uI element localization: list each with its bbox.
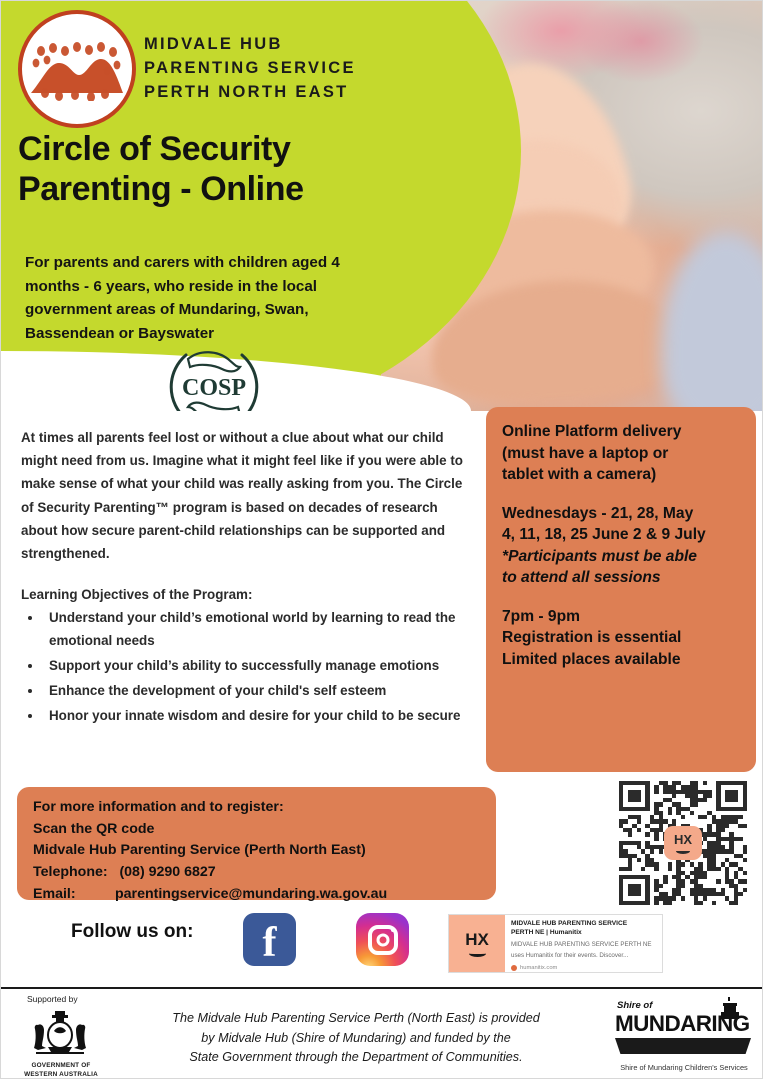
qr-logo-text: HX [674, 833, 692, 846]
humanitix-card-desc-1: MIDVALE HUB PARENTING SERVICE PERTH NE [511, 941, 656, 950]
delivery-line-1: Online Platform delivery [502, 421, 740, 443]
humanitix-card-title-2: PERTH NE | Humanitix [511, 929, 656, 938]
brand-line-1: MIDVALE HUB [144, 33, 356, 57]
smile-icon [469, 950, 486, 957]
brand-line-3: PERTH NORTH EAST [144, 81, 356, 105]
cosp-circle-hands-icon: COSP [166, 339, 262, 411]
funding-line-1: The Midvale Hub Parenting Service Perth … [141, 1009, 571, 1029]
objectives-list: Understand your child’s emotional world … [43, 606, 473, 727]
attendance-note-line-2: to attend all sessions [502, 567, 740, 589]
supported-by-label: Supported by [27, 994, 78, 1004]
page-title: Circle of Security Parenting - Online [18, 129, 304, 209]
contact-qr-instruction: Scan the QR code [33, 819, 480, 841]
contact-telephone[interactable]: Telephone: (08) 9290 6827 [33, 862, 480, 884]
list-item: Enhance the development of your child's … [43, 679, 473, 702]
humanitix-thumbnail: HX [449, 915, 505, 972]
contact-info-box: For more information and to register: Sc… [17, 787, 496, 900]
list-item: Honor your innate wisdom and desire for … [43, 704, 473, 727]
funding-line-2: by Midvale Hub (Shire of Mundaring) and … [141, 1029, 571, 1049]
eligibility-text: For parents and carers with children age… [25, 251, 385, 345]
brand-line-2: PARENTING SERVICE [144, 57, 356, 81]
facebook-glyph: f [263, 922, 277, 964]
wa-government-crest-icon [26, 1009, 94, 1061]
follow-us-label: Follow us on: [71, 921, 193, 943]
humanitix-logo-text: HX [465, 931, 489, 948]
hills-handprints-icon [29, 41, 125, 101]
list-item: Understand your child’s emotional world … [43, 606, 473, 652]
midvale-hub-logo [18, 10, 136, 128]
humanitix-card-url-row: humanitix.com [511, 965, 656, 971]
list-item: Support your child’s ability to successf… [43, 654, 473, 677]
svg-text:COSP: COSP [182, 375, 246, 401]
globe-icon [511, 965, 517, 971]
humanitix-card-desc-2: uses Humanitix for their events. Discove… [511, 952, 656, 961]
session-time: 7pm - 9pm [502, 606, 740, 628]
humanitix-card-title-1: MIDVALE HUB PARENTING SERVICE [511, 920, 656, 929]
registration-line-1: Registration is essential [502, 627, 740, 649]
attendance-note-line-1: *Participants must be able [502, 546, 740, 568]
funding-line-3: State Government through the Department … [141, 1048, 571, 1068]
humanitix-card-text: MIDVALE HUB PARENTING SERVICE PERTH NE |… [505, 915, 662, 972]
instagram-icon[interactable] [356, 913, 409, 966]
shire-of-label: Shire of [617, 1000, 652, 1011]
contact-email[interactable]: Email: parentingservice@mundaring.wa.gov… [33, 884, 480, 906]
intro-paragraph: At times all parents feel lost or withou… [21, 426, 473, 565]
poster-root: MIDVALE HUB PARENTING SERVICE PERTH NORT… [0, 0, 763, 1079]
humanitix-link-card[interactable]: HX MIDVALE HUB PARENTING SERVICE PERTH N… [448, 914, 663, 973]
hero-section: MIDVALE HUB PARENTING SERVICE PERTH NORT… [1, 1, 763, 411]
wa-gov-line-1: GOVERNMENT OF [18, 1062, 104, 1071]
facebook-icon[interactable]: f [243, 913, 296, 966]
wa-gov-line-2: WESTERN AUSTRALIA [18, 1071, 104, 1079]
delivery-line-3: tablet with a camera) [502, 464, 740, 486]
contact-heading: For more information and to register: [33, 797, 480, 819]
contact-org-name: Midvale Hub Parenting Service (Perth Nor… [33, 840, 480, 862]
objectives-title: Learning Objectives of the Program: [21, 587, 473, 602]
dates-line-1: Wednesdays - 21, 28, May [502, 503, 740, 525]
smile-icon [676, 848, 690, 854]
clock-tower-icon [717, 997, 743, 1019]
shire-children-services-label: Shire of Mundaring Children's Services [613, 1063, 755, 1072]
shire-of-mundaring-logo: Shire of MUNDARING [613, 997, 753, 1059]
brand-name: MIDVALE HUB PARENTING SERVICE PERTH NORT… [144, 33, 356, 105]
funding-statement: The Midvale Hub Parenting Service Perth … [141, 1009, 571, 1068]
qr-code[interactable]: HX [619, 781, 747, 905]
session-details-box: Online Platform delivery (must have a la… [486, 407, 756, 772]
humanitix-card-url: humanitix.com [520, 965, 557, 971]
title-line-2: Parenting - Online [18, 169, 304, 209]
humanitix-qr-logo: HX [664, 826, 702, 860]
wa-government-label: GOVERNMENT OF WESTERN AUSTRALIA [18, 1062, 104, 1079]
instagram-camera-glyph [368, 925, 398, 955]
dates-line-2: 4, 11, 18, 25 June 2 & 9 July [502, 524, 740, 546]
title-line-1: Circle of Security [18, 129, 304, 169]
footer-section: Supported by GOVERNMENT OF WESTERN AUSTR… [1, 989, 763, 1079]
registration-line-2: Limited places available [502, 649, 740, 671]
cosp-logo: COSP [166, 339, 262, 411]
mundaring-logo-bar [615, 1038, 751, 1054]
program-description: At times all parents feel lost or withou… [21, 426, 473, 729]
delivery-line-2: (must have a laptop or [502, 443, 740, 465]
